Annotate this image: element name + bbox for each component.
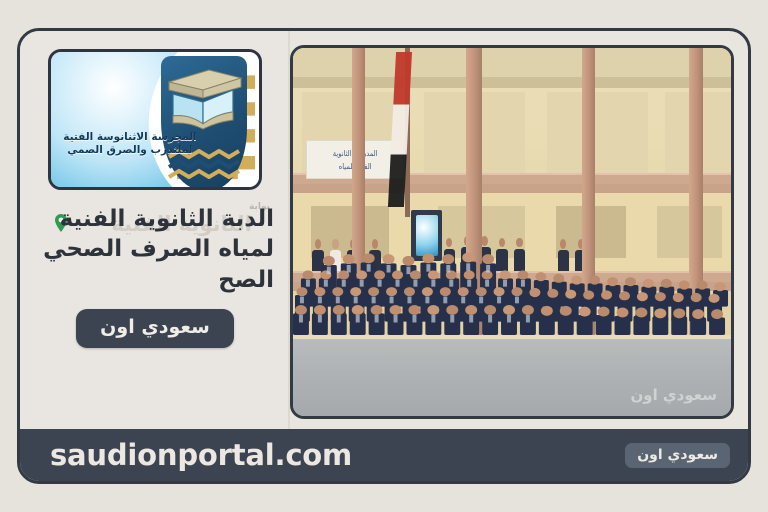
page-title: الدبة الثانوية الفنية لمياه الصرف الصحي … <box>30 204 280 295</box>
headline-block: بوابة الثانوية الفنية الدبة الثانوية الف… <box>30 204 280 295</box>
card-body: المجرسة الاثنانوسة الفتية لملئدرب والصرق… <box>20 31 748 429</box>
school-group-photo[interactable]: المدرسة الثانوية الفنية للمياه <box>290 45 734 419</box>
left-panel: المجرسة الاثنانوسة الفتية لملئدرب والصرق… <box>20 31 290 429</box>
brand-tag-button[interactable]: سعودي اون <box>76 309 234 348</box>
logo-text-line-2: لملئدرب والصرق الصمي <box>59 144 201 157</box>
site-url[interactable]: saudionportal.com <box>50 438 352 472</box>
book-icon <box>163 68 243 130</box>
photo-watermark: سعودي اون <box>630 386 717 404</box>
page-title-line-1: الدبة الثانوية الفنية <box>30 204 274 234</box>
logo-text-line-1: المجرسة الاثنانوسة الفتية <box>59 131 201 144</box>
students-group <box>293 250 731 338</box>
screenshot-root: المجرسة الاثنانوسة الفتية لملئدرب والصرق… <box>0 0 768 512</box>
school-logo: المجرسة الاثنانوسة الفتية لملئدرب والصرق… <box>48 49 262 190</box>
courtyard-ground <box>293 339 731 416</box>
content-card: المجرسة الاثنانوسة الفتية لملئدرب والصرق… <box>17 28 751 484</box>
footer-bar: saudionportal.com سعودي اون <box>20 429 748 481</box>
footer-brand-badge[interactable]: سعودي اون <box>625 443 730 468</box>
page-title-line-3: الصح <box>30 265 274 295</box>
page-title-line-2: لمياه الصرف الصحي <box>30 234 274 264</box>
logo-text: المجرسة الاثنانوسة الفتية لملئدرب والصرق… <box>59 131 201 157</box>
